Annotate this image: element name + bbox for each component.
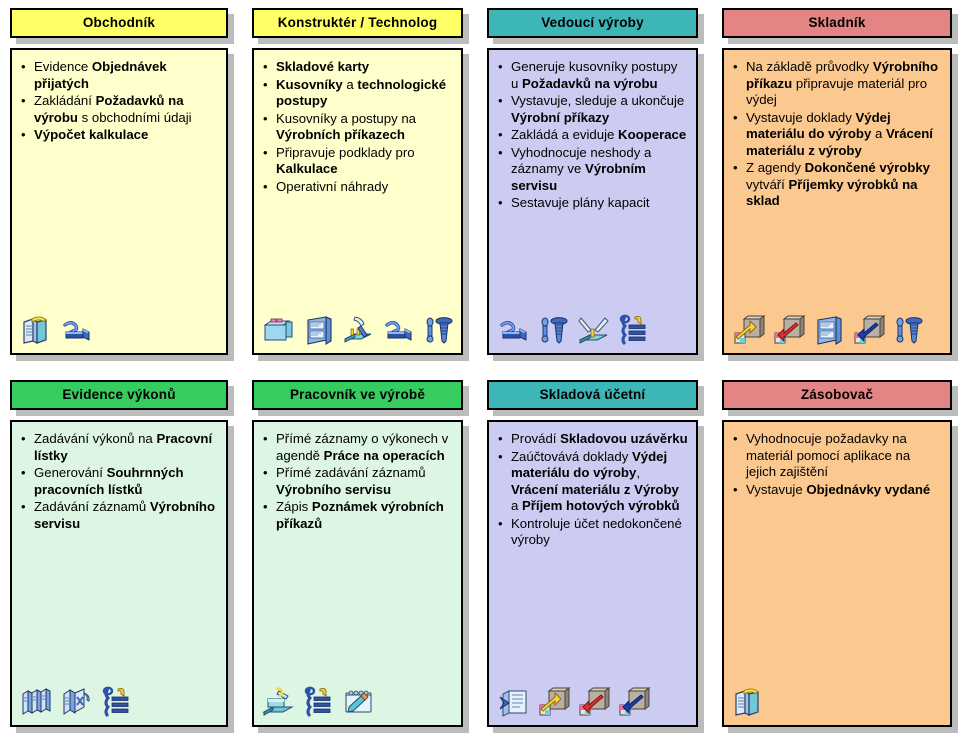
bolt-nut-icon	[382, 313, 416, 347]
role-card-grid: ObchodníkEvidence Objednávek přijatýchZa…	[0, 0, 966, 744]
bullet-list: Zadávání výkonů na Pracovní lístkyGenero…	[12, 422, 226, 667]
card-header-title: Vedoucí výroby	[487, 8, 698, 38]
hammer-bench-icon	[342, 313, 376, 347]
warehouse-out-icon	[772, 313, 806, 347]
screw-pair-icon	[537, 313, 571, 347]
card-header-title: Zásobovač	[722, 380, 952, 410]
bullet-term: Výrobních příkazech	[276, 127, 405, 142]
role-card-pracovnik-ve-vyrobe: Pracovník ve výroběPřímé záznamy o výkon…	[242, 372, 477, 744]
card-header-wrap: Evidence výkonů	[10, 380, 232, 410]
icon-row	[724, 295, 950, 353]
bullet-text: a	[871, 126, 886, 141]
bullet-list: Přímé záznamy o výkonech v agendě Práce …	[254, 422, 461, 667]
bullet-term: Požadavků na výrobu	[522, 76, 658, 91]
bullet-item: Sestavuje plány kapacit	[495, 195, 688, 212]
book-chart-icon	[60, 685, 94, 719]
bullet-text: Operativní náhrady	[276, 179, 388, 194]
icon-row	[254, 295, 461, 353]
clamp-records-icon	[100, 685, 134, 719]
card-body: Evidence Objednávek přijatýchZakládání P…	[10, 48, 228, 355]
bullet-term: Kooperace	[618, 127, 686, 142]
card-body: Skladové kartyKusovníky a technologické …	[252, 48, 463, 355]
bullet-text: Vystavuje	[746, 482, 806, 497]
bullet-text: a	[343, 77, 358, 92]
bullet-text: Z agendy	[746, 160, 805, 175]
bullet-text: Zápis	[276, 499, 312, 514]
bullet-text: Zadávání výkonů na	[34, 431, 156, 446]
bullet-text: Vystavuje doklady	[746, 110, 855, 125]
card-body-wrap: Vyhodnocuje požadavky na materiál pomocí…	[722, 420, 956, 727]
bullet-text: Na základě průvodky	[746, 59, 873, 74]
bolt-nut-icon	[497, 313, 531, 347]
clamp-records-icon	[302, 685, 336, 719]
bullet-text: Kontroluje účet nedokončené výroby	[511, 516, 682, 548]
card-body-wrap: Zadávání výkonů na Pracovní lístkyGenero…	[10, 420, 232, 727]
book-arrow-icon	[732, 685, 766, 719]
bullet-text: Provádí	[511, 431, 560, 446]
card-header-title: Obchodník	[10, 8, 228, 38]
screw-pair-icon	[422, 313, 456, 347]
card-body-wrap: Přímé záznamy o výkonech v agendě Práce …	[252, 420, 467, 727]
card-body-wrap: Na základě průvodky Výrobního příkazu př…	[722, 48, 956, 355]
card-header-title: Skladová účetní	[487, 380, 698, 410]
bullet-item: Vystavuje Objednávky vydané	[730, 482, 942, 499]
bullet-item: Vystavuje doklady Výdej materiálu do výr…	[730, 110, 942, 160]
role-card-konstrukter-technolog: Konstruktér / TechnologSkladové kartyKus…	[242, 0, 477, 372]
bullet-item: Provádí Skladovou uzávěrku	[495, 431, 688, 448]
bullet-text: a	[511, 498, 522, 513]
icon-row	[254, 667, 461, 725]
warehouse-out-icon	[577, 685, 611, 719]
bullet-item: Zaúčtovává doklady Výdej materiálu do vý…	[495, 449, 688, 515]
role-card-zasobovac: ZásobovačVyhodnocuje požadavky na materi…	[712, 372, 966, 744]
bullet-item: Výpočet kalkulace	[18, 127, 218, 144]
card-header-wrap: Pracovník ve výrobě	[252, 380, 467, 410]
cabinet-icon	[812, 313, 846, 347]
bullet-item: Přímé záznamy o výkonech v agendě Práce …	[260, 431, 453, 464]
bullet-item: Skladové karty	[260, 59, 453, 76]
bullet-text: Kusovníky a postupy na	[276, 111, 416, 126]
bullet-term: Výpočet kalkulace	[34, 127, 148, 142]
bullet-text: Vystavuje, sleduje a ukončuje	[511, 93, 684, 108]
icon-row	[489, 667, 696, 725]
card-body-wrap: Skladové kartyKusovníky a technologické …	[252, 48, 467, 355]
icon-row	[12, 295, 226, 353]
card-header-wrap: Vedoucí výroby	[487, 8, 702, 38]
bullet-text: Zakládá a eviduje	[511, 127, 618, 142]
card-header-wrap: Konstruktér / Technolog	[252, 8, 467, 38]
card-header-title: Konstruktér / Technolog	[252, 8, 463, 38]
card-header-wrap: Skladová účetní	[487, 380, 702, 410]
screw-pair-icon	[892, 313, 926, 347]
bullet-item: Zápis Poznámek výrobních příkazů	[260, 499, 453, 532]
bullet-list: Vyhodnocuje požadavky na materiál pomocí…	[724, 422, 950, 667]
bullet-text: Sestavuje plány kapacit	[511, 195, 650, 210]
icon-row	[489, 295, 696, 353]
bullet-item: Generování Souhrnných pracovních lístků	[18, 465, 218, 498]
bullet-term: Kalkulace	[276, 161, 338, 176]
card-body-wrap: Provádí Skladovou uzávěrkuZaúčtovává dok…	[487, 420, 702, 727]
bullet-text: Přímé zadávání záznamů	[276, 465, 426, 480]
tools-bench-icon	[577, 313, 611, 347]
bullet-text: ,	[636, 465, 640, 480]
card-header-title: Skladník	[722, 8, 952, 38]
bullet-item: Z agendy Dokončené výrobky vytváří Příje…	[730, 160, 942, 210]
bullet-item: Zadávání záznamů Výrobního servisu	[18, 499, 218, 532]
bullet-term: Výrobní příkazy	[511, 110, 609, 125]
bullet-list: Provádí Skladovou uzávěrkuZaúčtovává dok…	[489, 422, 696, 667]
bullet-term: Výrobního servisu	[276, 482, 391, 497]
card-body: Vyhodnocuje požadavky na materiál pomocí…	[722, 420, 952, 727]
clamp-records-icon	[617, 313, 651, 347]
ledger-close-icon	[497, 685, 531, 719]
warehouse-in-icon	[537, 685, 571, 719]
bullet-text: vytváří	[746, 177, 789, 192]
bolt-nut-icon	[60, 313, 94, 347]
folders-icon	[262, 313, 296, 347]
bullet-item: Zakládá a eviduje Kooperace	[495, 127, 688, 144]
bullet-item: Vystavuje, sleduje a ukončuje Výrobní př…	[495, 93, 688, 126]
warehouse-move-icon	[617, 685, 651, 719]
card-header-wrap: Zásobovač	[722, 380, 956, 410]
cabinet-icon	[302, 313, 336, 347]
machine-tool-icon	[262, 685, 296, 719]
bullet-term: Kusovníky	[276, 77, 343, 92]
bullet-item: Přímé zadávání záznamů Výrobního servisu	[260, 465, 453, 498]
notepad-pencil-icon	[342, 685, 376, 719]
card-body: Na základě průvodky Výrobního příkazu př…	[722, 48, 952, 355]
bullet-item: Připravuje podklady pro Kalkulace	[260, 145, 453, 178]
role-card-evidence-vykonu: Evidence výkonůZadávání výkonů na Pracov…	[0, 372, 242, 744]
bullet-item: Evidence Objednávek přijatých	[18, 59, 218, 92]
bullet-text: Evidence	[34, 59, 92, 74]
bullet-item: Kusovníky a technologické postupy	[260, 77, 453, 110]
icon-row	[724, 667, 950, 725]
bullet-list: Evidence Objednávek přijatýchZakládání P…	[12, 50, 226, 295]
bullet-term: Práce na operacích	[324, 448, 445, 463]
bullet-text: Zaúčtovává doklady	[511, 449, 632, 464]
card-body: Přímé záznamy o výkonech v agendě Práce …	[252, 420, 463, 727]
bullet-item: Kontroluje účet nedokončené výroby	[495, 516, 688, 549]
bullet-item: Generuje kusovníky postupy u Požadavků n…	[495, 59, 688, 92]
bullet-list: Skladové kartyKusovníky a technologické …	[254, 50, 461, 295]
bullet-term: Dokončené výrobky	[805, 160, 930, 175]
bullet-text: Připravuje podklady pro	[276, 145, 415, 160]
bullet-item: Kusovníky a postupy na Výrobních příkaze…	[260, 111, 453, 144]
bullet-item: Na základě průvodky Výrobního příkazu př…	[730, 59, 942, 109]
card-header-wrap: Obchodník	[10, 8, 232, 38]
card-body: Generuje kusovníky postupy u Požadavků n…	[487, 48, 698, 355]
bullet-term: Objednávky vydané	[806, 482, 930, 497]
bullet-list: Na základě průvodky Výrobního příkazu př…	[724, 50, 950, 295]
bullet-term: Skladovou uzávěrku	[560, 431, 688, 446]
bullet-item: Zakládání Požadavků na výrobu s obchodní…	[18, 93, 218, 126]
role-card-vedouci-vyroby: Vedoucí výrobyGeneruje kusovníky postupy…	[477, 0, 712, 372]
icon-row	[12, 667, 226, 725]
bullet-text: Vyhodnocuje požadavky na materiál pomocí…	[746, 431, 910, 479]
warehouse-in-icon	[732, 313, 766, 347]
card-body-wrap: Generuje kusovníky postupy u Požadavků n…	[487, 48, 702, 355]
bullet-item: Vyhodnocuje neshody a záznamy ve Výrobní…	[495, 145, 688, 195]
bullet-text: Zakládání	[34, 93, 96, 108]
card-header-title: Evidence výkonů	[10, 380, 228, 410]
bullet-text: Generování	[34, 465, 107, 480]
card-header-wrap: Skladník	[722, 8, 956, 38]
bullet-item: Zadávání výkonů na Pracovní lístky	[18, 431, 218, 464]
card-body: Provádí Skladovou uzávěrkuZaúčtovává dok…	[487, 420, 698, 727]
card-body-wrap: Evidence Objednávek přijatýchZakládání P…	[10, 48, 232, 355]
role-card-obchodnik: ObchodníkEvidence Objednávek přijatýchZa…	[0, 0, 242, 372]
bullet-item: Vyhodnocuje požadavky na materiál pomocí…	[730, 431, 942, 481]
bullet-term: Skladové karty	[276, 59, 369, 74]
bullet-item: Operativní náhrady	[260, 179, 453, 196]
bullet-list: Generuje kusovníky postupy u Požadavků n…	[489, 50, 696, 295]
warehouse-move-icon	[852, 313, 886, 347]
bullet-text: s obchodními údaji	[78, 110, 192, 125]
role-card-skladova-ucetni: Skladová účetníProvádí Skladovou uzávěrk…	[477, 372, 712, 744]
card-body: Zadávání výkonů na Pracovní lístkyGenero…	[10, 420, 228, 727]
bullet-term: Vrácení materiálu z Výroby	[511, 482, 679, 497]
book-arrow-icon	[20, 313, 54, 347]
books-icon	[20, 685, 54, 719]
role-card-skladnik: SkladníkNa základě průvodky Výrobního př…	[712, 0, 966, 372]
bullet-term: Příjem hotových výrobků	[522, 498, 680, 513]
bullet-text: Zadávání záznamů	[34, 499, 150, 514]
card-header-title: Pracovník ve výrobě	[252, 380, 463, 410]
